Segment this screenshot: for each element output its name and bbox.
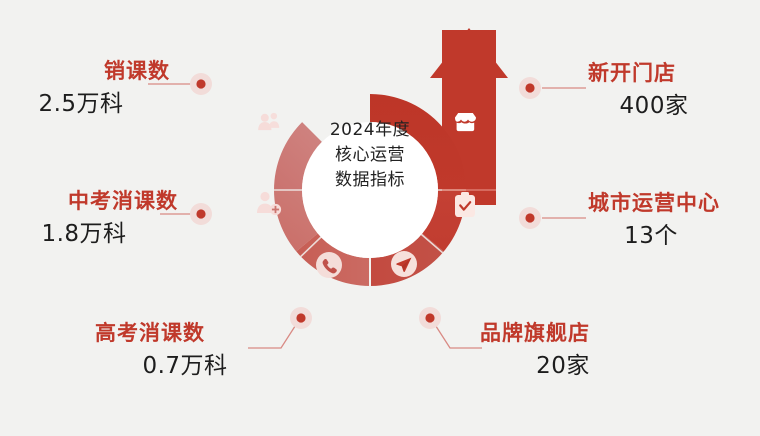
callout-title-zhongkao: 中考消课数 [0,190,178,214]
callout-title-pinpai: 品牌旗舰店 [480,322,660,346]
callout-zhongkao: 中考消课数 1.8万科 [0,190,178,248]
callout-pinpai: 品牌旗舰店 20家 [480,322,660,380]
callout-xiaokeshu: 销课数 2.5万科 [0,60,170,118]
users-group-icon [258,113,279,130]
arrow-head [430,28,508,78]
dot-xiaokeshu [190,73,212,95]
callout-value-pinpai: 20家 [480,352,660,380]
phone-icon [316,252,342,278]
connector-pinpai [432,320,482,348]
dot-gaokao [290,307,312,329]
callout-value-chengshi: 13个 [588,222,760,250]
callout-xinkai: 新开门店 400家 [588,62,748,120]
callout-gaokao: 高考消课数 0.7万科 [95,322,265,380]
center-line-1: 2024年度 [302,118,438,143]
dot-zhongkao [190,203,212,225]
callout-value-gaokao: 0.7万科 [95,352,265,380]
dot-xinkai [519,77,541,99]
callout-value-xinkai: 400家 [588,92,748,120]
callout-chengshi: 城市运营中心 13个 [588,192,760,250]
center-line-3: 数据指标 [302,168,438,193]
dot-chengshi [519,207,541,229]
callout-title-chengshi: 城市运营中心 [588,192,760,216]
callout-value-zhongkao: 1.8万科 [0,220,178,248]
center-title: 2024年度 核心运营 数据指标 [302,118,438,193]
callout-title-xiaokeshu: 销课数 [0,60,170,84]
callout-title-gaokao: 高考消课数 [95,322,265,346]
clipboard-check-icon [455,192,475,217]
center-line-2: 核心运营 [302,143,438,168]
infographic-canvas: 2024年度 核心运营 数据指标 销课数 2.5万科 中考消课数 1.8万科 高… [0,0,760,436]
callout-title-xinkai: 新开门店 [588,62,748,86]
callout-value-xiaokeshu: 2.5万科 [0,90,170,118]
dot-pinpai [419,307,441,329]
send-icon [391,251,417,277]
